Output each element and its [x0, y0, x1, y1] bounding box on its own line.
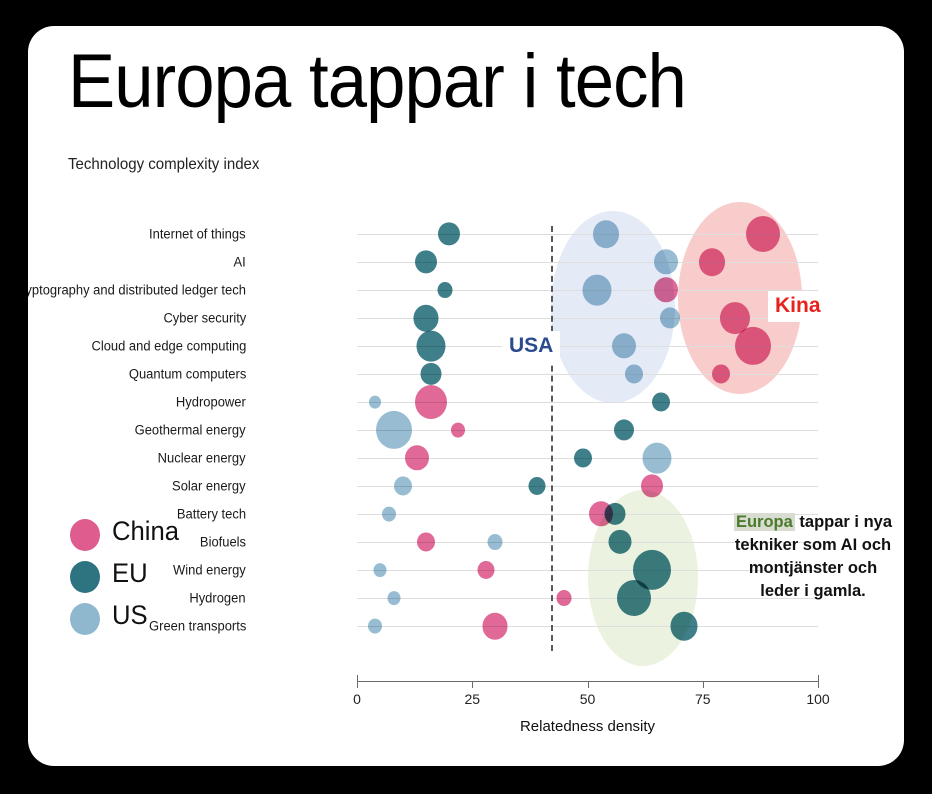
region-label-usa: USA: [502, 331, 560, 362]
x-tick: [588, 681, 589, 688]
region-label-kina: Kina: [768, 291, 828, 322]
bubble-us: [625, 364, 643, 383]
y-axis-label: Geothermal energy: [135, 423, 246, 438]
legend-swatch-eu: [70, 561, 100, 593]
bubble-china: [478, 561, 495, 579]
bubble-chart: Internet of thingsAICryptography and dis…: [28, 26, 904, 766]
x-tick: [818, 681, 819, 688]
y-axis-label: Internet of things: [149, 227, 246, 242]
bubble-us: [376, 411, 412, 449]
bubble-eu: [617, 580, 651, 616]
bubble-eu: [671, 612, 698, 641]
legend-swatch-us: [70, 603, 100, 635]
y-axis-label: Biofuels: [200, 535, 246, 550]
bubble-china: [405, 445, 429, 470]
gridline: [357, 626, 818, 627]
bubble-eu: [420, 363, 441, 385]
bubble-us: [374, 563, 387, 577]
bubble-china: [699, 248, 725, 276]
bubble-eu: [652, 392, 670, 411]
bubble-china: [746, 216, 780, 252]
legend-label: US: [112, 600, 148, 631]
bubble-china: [735, 327, 771, 365]
bubble-eu: [437, 282, 452, 298]
bubble-us: [488, 534, 503, 550]
x-tick-label: 75: [695, 691, 711, 707]
x-tick-label: 50: [580, 691, 596, 707]
europa-annotation: Europa tappar i nya tekniker som AI och …: [733, 511, 893, 603]
bubble-eu: [614, 419, 634, 440]
x-tick-label: 0: [353, 691, 361, 707]
gridline: [357, 486, 818, 487]
x-tick: [357, 681, 358, 688]
bubble-eu: [574, 448, 592, 467]
y-axis-label: Solar energy: [173, 479, 246, 494]
y-axis-label: Green transports: [149, 619, 246, 634]
bubble-us: [382, 507, 396, 522]
bubble-china: [557, 590, 572, 606]
gridline: [357, 430, 818, 431]
bubble-us: [660, 307, 680, 328]
legend-label: China: [112, 516, 179, 547]
y-axis-label: Wind energy: [173, 563, 246, 578]
bubble-us: [654, 249, 678, 274]
bubble-china: [417, 532, 435, 551]
bubble-eu: [415, 250, 437, 273]
y-axis-label: AI: [234, 255, 246, 270]
bubble-us: [368, 619, 382, 634]
x-tick: [703, 681, 704, 688]
y-axis-label: Quantum computers: [129, 367, 246, 382]
y-axis-label: Cyber security: [163, 311, 246, 326]
bubble-us: [642, 443, 671, 474]
x-tick: [472, 681, 473, 688]
annotation-highlight: Europa: [734, 513, 795, 531]
bubble-us: [394, 476, 412, 495]
bubble-eu: [416, 331, 445, 362]
y-axis-label: Nuclear energy: [158, 451, 246, 466]
infographic-card: Europa tappar i tech Technology complexi…: [28, 26, 904, 766]
bubble-eu: [438, 222, 460, 245]
bubble-eu: [414, 305, 439, 332]
bubble-eu: [528, 477, 545, 495]
legend-label: EU: [112, 558, 148, 589]
x-tick-label: 100: [806, 691, 829, 707]
y-axis-label: Hydropower: [176, 395, 246, 410]
median-divider-line: [551, 226, 553, 651]
bubble-us: [593, 220, 619, 248]
x-axis-title: Relatedness density: [357, 718, 818, 735]
bubble-china: [451, 423, 465, 438]
bubble-us: [582, 275, 611, 306]
legend-swatch-china: [70, 519, 100, 551]
bubble-us: [387, 591, 400, 605]
y-axis-label: Hydrogen: [190, 591, 246, 606]
y-axis-label: Battery tech: [177, 507, 246, 522]
bubble-us: [369, 396, 381, 409]
x-tick-label: 25: [464, 691, 480, 707]
y-axis-label: Cloud and edge computing: [91, 339, 246, 354]
bubble-china: [483, 613, 508, 640]
bubble-china: [712, 364, 730, 383]
y-axis-label: Cryptography and distributed ledger tech: [28, 283, 246, 298]
bubble-china: [415, 385, 447, 419]
